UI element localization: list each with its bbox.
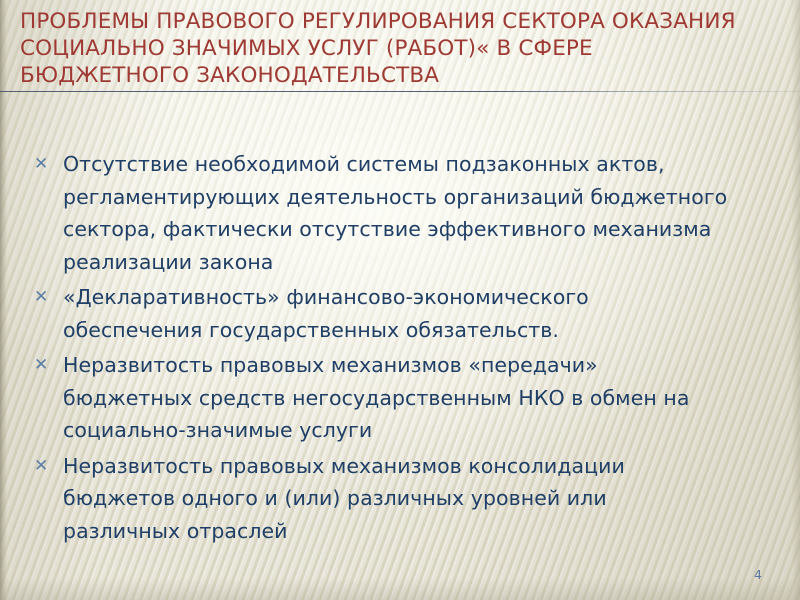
slide-right-edge-band [786,0,800,600]
cross-bullet-icon: ✕ [30,450,63,483]
cross-bullet-icon: ✕ [30,281,63,314]
list-item-text: «Декларативность» финансово-экономическо… [63,281,730,346]
list-item-text: Неразвитость правовых механизмов консоли… [63,450,730,548]
cross-bullet-icon: ✕ [30,349,63,382]
bullet-list: ✕ Отсутствие необходимой системы подзако… [30,148,730,550]
slide-title: ПРОБЛЕМЫ ПРАВОВОГО РЕГУЛИРОВАНИЯ СЕКТОРА… [20,8,760,89]
list-item: ✕ Неразвитость правовых механизмов «пере… [30,349,730,447]
slide-page-number: 4 [754,568,762,582]
cross-bullet-icon: ✕ [30,148,63,181]
slide-bottom-edge-band [0,578,800,600]
presentation-slide: ПРОБЛЕМЫ ПРАВОВОГО РЕГУЛИРОВАНИЯ СЕКТОРА… [0,0,800,600]
list-item: ✕ Отсутствие необходимой системы подзако… [30,148,730,278]
list-item: ✕ «Декларативность» финансово-экономичес… [30,281,730,346]
list-item-text: Отсутствие необходимой системы подзаконн… [63,148,730,278]
title-divider-rule [0,91,800,92]
list-item: ✕ Неразвитость правовых механизмов консо… [30,450,730,548]
list-item-text: Неразвитость правовых механизмов «переда… [63,349,730,447]
slide-left-edge-band [0,0,9,600]
